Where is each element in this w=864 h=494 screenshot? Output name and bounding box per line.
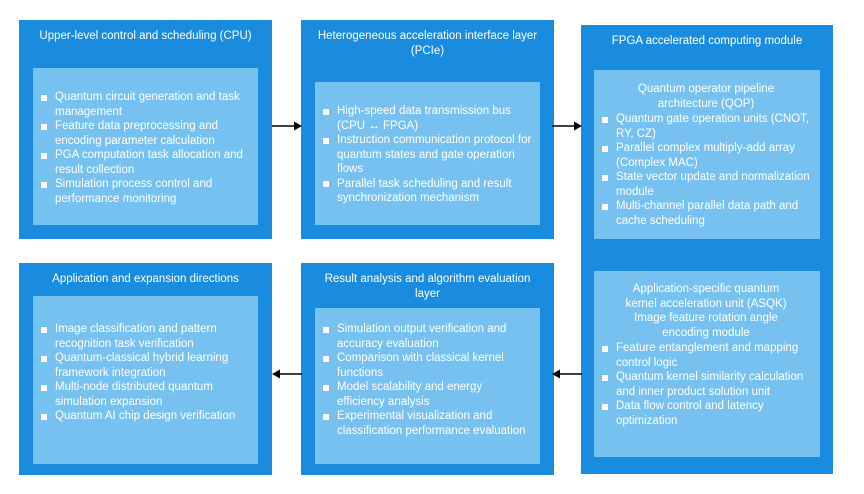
bullet-square-icon: [41, 356, 47, 362]
bullet-square-icon: [323, 181, 329, 187]
list-item-label: Quantum circuit generation and task mana…: [55, 91, 240, 118]
list-item: PGA computation task allocation and resu…: [37, 148, 250, 177]
list-item: Quantum kernel similarity calculation an…: [598, 370, 814, 399]
bullet-square-icon: [323, 385, 329, 391]
list-item: Data flow control and latency optimizati…: [598, 399, 814, 428]
box-result-panel: Simulation output verification and accur…: [315, 308, 540, 464]
box-application-title: Application and expansion directions: [29, 272, 262, 287]
list-item: High-speed data transmission bus (CPU ↔ …: [319, 104, 532, 133]
bullet-square-icon: [41, 95, 47, 101]
bullet-square-icon: [602, 175, 608, 181]
bullet-square-icon: [41, 153, 47, 159]
bullet-square-icon: [41, 414, 47, 420]
bullet-square-icon: [602, 346, 608, 352]
list-item: Parallel task scheduling and result sync…: [319, 177, 532, 206]
list-item: Multi-channel parallel data path and cac…: [598, 199, 814, 228]
list-item-label: Comparison with classical kernel functio…: [337, 352, 504, 379]
arrow-cpu-to-pcie: [272, 120, 302, 132]
diagram-canvas: Upper-level control and scheduling (CPU)…: [0, 0, 864, 494]
box-cpu-title: Upper-level control and scheduling (CPU): [29, 29, 262, 44]
bullet-square-icon: [323, 356, 329, 362]
list-item-label: State vector update and normalization mo…: [616, 171, 810, 198]
list-item: Instruction communication protocol for q…: [319, 133, 532, 177]
box-pcie-bullet-list: High-speed data transmission bus (CPU ↔ …: [319, 104, 532, 206]
bullet-square-icon: [323, 414, 329, 420]
arrow-pcie-to-fpga: [552, 120, 582, 132]
list-item: Multi-node distributed quantum simulatio…: [37, 380, 250, 409]
list-item-label: Quantum AI chip design verification: [55, 410, 235, 422]
list-item-label: Image classification and pattern recogni…: [55, 323, 217, 350]
bullet-square-icon: [602, 404, 608, 410]
list-item-label: Multi-channel parallel data path and cac…: [616, 200, 798, 227]
bullet-square-icon: [323, 138, 329, 144]
list-item-label: PGA computation task allocation and resu…: [55, 149, 243, 176]
list-item-label: Simulation process control and performan…: [55, 178, 212, 205]
list-item: Parallel complex multiply-add array (Com…: [598, 141, 814, 170]
bullet-square-icon: [41, 124, 47, 130]
box-asqk-panel: Application-specific quantum kernel acce…: [594, 271, 820, 457]
bullet-square-icon: [41, 385, 47, 391]
arrow-result-to-application: [272, 368, 302, 380]
box-fpga-heading: Quantum operator pipeline architecture (…: [598, 82, 814, 111]
list-item-label: Quantum gate operation units (CNOT, RY, …: [616, 113, 809, 140]
bullet-square-icon: [602, 204, 608, 210]
list-item-label: Data flow control and latency optimizati…: [616, 400, 764, 427]
list-item-label: Feature entanglement and mapping control…: [616, 342, 798, 369]
box-application-bullet-list: Image classification and pattern recogni…: [37, 322, 250, 424]
list-item-label: Model scalability and energy efficiency …: [337, 381, 482, 408]
list-item: Model scalability and energy efficiency …: [319, 380, 532, 409]
list-item-label: Parallel task scheduling and result sync…: [337, 178, 512, 205]
list-item: Feature data preprocessing and encoding …: [37, 119, 250, 148]
list-item: Quantum gate operation units (CNOT, RY, …: [598, 112, 814, 141]
list-item-label: Quantum-classical hybrid learning framew…: [55, 352, 228, 379]
box-fpga-column: FPGA accelerated computing module Quantu…: [581, 25, 833, 474]
list-item: Comparison with classical kernel functio…: [319, 351, 532, 380]
box-cpu: Upper-level control and scheduling (CPU)…: [19, 20, 272, 239]
box-cpu-panel: Quantum circuit generation and task mana…: [33, 68, 258, 225]
list-item-label: Feature data preprocessing and encoding …: [55, 120, 218, 147]
list-item-label: Experimental visualization and classific…: [337, 410, 526, 437]
list-item: Quantum AI chip design verification: [37, 409, 250, 424]
box-fpga-panel: Quantum operator pipeline architecture (…: [594, 70, 820, 239]
box-asqk-bullet-list: Feature entanglement and mapping control…: [598, 341, 814, 428]
list-item: Image classification and pattern recogni…: [37, 322, 250, 351]
list-item: Feature entanglement and mapping control…: [598, 341, 814, 370]
bullet-square-icon: [602, 146, 608, 152]
list-item: State vector update and normalization mo…: [598, 170, 814, 199]
list-item-label: Simulation output verification and accur…: [337, 323, 506, 350]
bullet-square-icon: [323, 109, 329, 115]
bullet-square-icon: [41, 182, 47, 188]
list-item-label: Parallel complex multiply-add array (Com…: [616, 142, 795, 169]
box-result-bullet-list: Simulation output verification and accur…: [319, 322, 532, 438]
list-item: Simulation process control and performan…: [37, 177, 250, 206]
box-pcie-panel: High-speed data transmission bus (CPU ↔ …: [315, 82, 540, 225]
list-item-label: Quantum kernel similarity calculation an…: [616, 371, 803, 398]
list-item-label: High-speed data transmission bus (CPU ↔ …: [337, 105, 511, 132]
box-result: Result analysis and algorithm evaluation…: [301, 263, 554, 475]
box-pcie-title: Heterogeneous acceleration interface lay…: [311, 29, 544, 59]
bullet-square-icon: [602, 375, 608, 381]
arrow-asqk-to-result: [552, 368, 582, 380]
box-application-panel: Image classification and pattern recogni…: [33, 296, 258, 464]
bullet-square-icon: [41, 327, 47, 333]
box-fpga-title: FPGA accelerated computing module: [591, 34, 823, 49]
list-item: Experimental visualization and classific…: [319, 409, 532, 438]
list-item-label: Multi-node distributed quantum simulatio…: [55, 381, 213, 408]
list-item-label: Instruction communication protocol for q…: [337, 134, 531, 175]
box-application: Application and expansion directions Ima…: [19, 263, 272, 475]
box-fpga-bullet-list: Quantum gate operation units (CNOT, RY, …: [598, 112, 814, 228]
box-result-title: Result analysis and algorithm evaluation…: [311, 272, 544, 302]
box-asqk-heading: Application-specific quantum kernel acce…: [598, 282, 814, 340]
box-pcie: Heterogeneous acceleration interface lay…: [301, 20, 554, 239]
list-item: Quantum circuit generation and task mana…: [37, 90, 250, 119]
box-cpu-bullet-list: Quantum circuit generation and task mana…: [37, 90, 250, 206]
list-item: Quantum-classical hybrid learning framew…: [37, 351, 250, 380]
bullet-square-icon: [602, 117, 608, 123]
bullet-square-icon: [323, 327, 329, 333]
list-item: Simulation output verification and accur…: [319, 322, 532, 351]
